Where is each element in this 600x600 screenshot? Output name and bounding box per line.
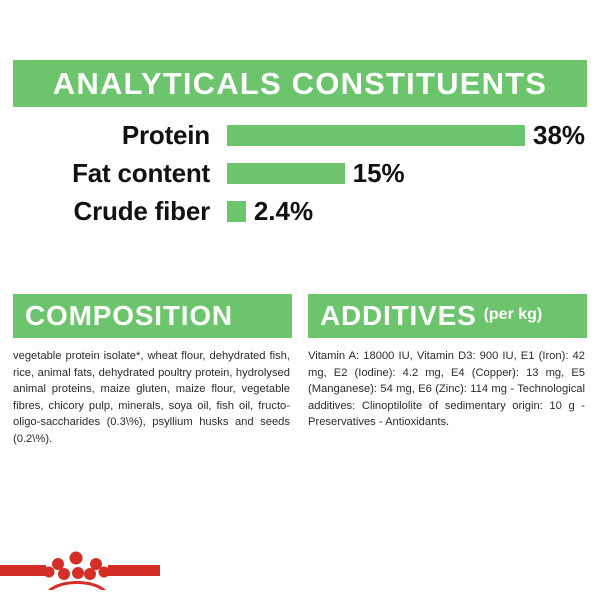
analyticals-header-bar: ANALYTICALS CONSTITUENTS: [13, 60, 587, 107]
royal-canin-crown-logo: [0, 545, 160, 593]
composition-panel: COMPOSITION vegetable protein isolate*, …: [13, 294, 292, 447]
nutrient-bar-wrap-protein: 38%: [227, 122, 585, 148]
nutrient-row-fat-content: Fat content 15%: [0, 154, 600, 192]
nutrient-bar-protein: [227, 125, 525, 146]
nutrient-bar-fat-content: [227, 163, 345, 184]
nutrient-value-protein: 38%: [533, 122, 585, 148]
nutrient-bar-wrap-fat-content: 15%: [227, 160, 405, 186]
nutrient-bar-crude-fiber: [227, 201, 246, 222]
nutrient-value-crude-fiber: 2.4%: [254, 198, 313, 224]
crown-icon: [0, 545, 160, 593]
additives-body-text: Vitamin A: 18000 IU, Vitamin D3: 900 IU,…: [308, 338, 587, 431]
analyticals-constituents-section: ANALYTICALS CONSTITUENTS Protein 38% Fat…: [0, 0, 600, 255]
composition-title: COMPOSITION: [25, 302, 233, 330]
nutrient-row-protein: Protein 38%: [0, 116, 600, 154]
analyticals-header-title: ANALYTICALS CONSTITUENTS: [53, 68, 547, 99]
nutrient-bar-chart: Protein 38% Fat content 15% Crude fiber …: [0, 116, 600, 230]
composition-body-text: vegetable protein isolate*, wheat flour,…: [13, 338, 292, 447]
detail-panels: COMPOSITION vegetable protein isolate*, …: [0, 294, 600, 494]
additives-panel: ADDITIVES (per kg) Vitamin A: 18000 IU, …: [308, 294, 587, 431]
nutrient-row-crude-fiber: Crude fiber 2.4%: [0, 192, 600, 230]
nutrient-label-crude-fiber: Crude fiber: [0, 198, 210, 224]
nutrient-value-fat-content: 15%: [353, 160, 405, 186]
additives-subtitle: (per kg): [484, 307, 543, 325]
nutrient-label-fat-content: Fat content: [0, 160, 210, 186]
additives-title: ADDITIVES: [320, 302, 477, 330]
composition-header-bar: COMPOSITION: [13, 294, 292, 338]
nutrient-bar-wrap-crude-fiber: 2.4%: [227, 198, 313, 224]
nutrient-label-protein: Protein: [0, 122, 210, 148]
additives-header-bar: ADDITIVES (per kg): [308, 294, 587, 338]
